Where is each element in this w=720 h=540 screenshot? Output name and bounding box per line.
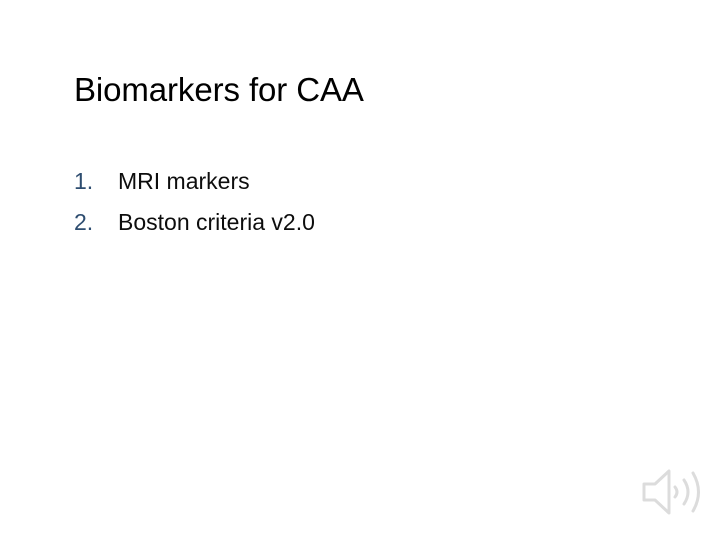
list-item-marker: 1. — [74, 165, 118, 198]
list-item: 1. MRI markers — [74, 165, 634, 198]
speaker-icon-glyph — [641, 464, 707, 520]
list-item-label: Boston criteria v2.0 — [118, 206, 634, 239]
numbered-list: 1. MRI markers 2. Boston criteria v2.0 — [74, 165, 634, 247]
speaker-icon[interactable] — [641, 464, 707, 520]
list-item-label: MRI markers — [118, 165, 634, 198]
list-item-marker: 2. — [74, 206, 118, 239]
list-item: 2. Boston criteria v2.0 — [74, 206, 634, 239]
page-title: Biomarkers for CAA — [74, 70, 364, 110]
slide-canvas: Biomarkers for CAA 1. MRI markers 2. Bos… — [0, 0, 720, 540]
